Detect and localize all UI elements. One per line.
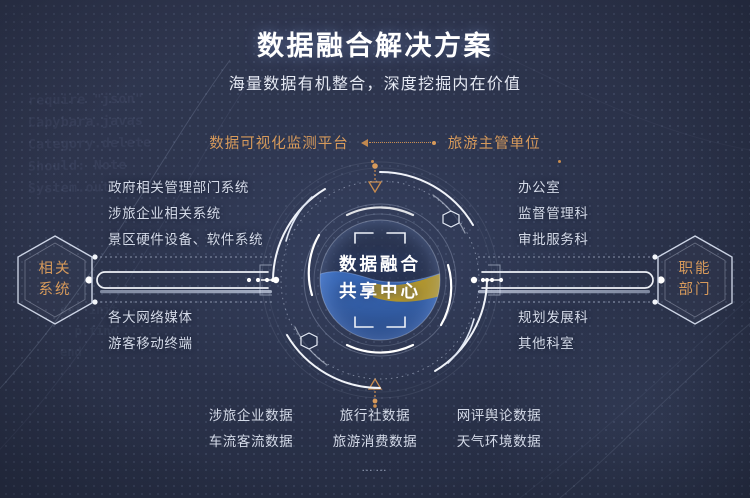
list-item: 其他科室 (518, 331, 589, 357)
list-item: 监督管理科 (518, 201, 589, 227)
bottom-data-sources: 涉旅企业数据 旅行社数据 网评舆论数据 车流客流数据 旅游消费数据 天气环境数据… (0, 404, 750, 474)
list-item: 网评舆论数据 (456, 404, 542, 424)
bottom-row-1: 涉旅企业数据 旅行社数据 网评舆论数据 (208, 404, 542, 424)
bottom-ellipsis: …… (361, 460, 389, 474)
list-item: 天气环境数据 (456, 430, 542, 450)
functional-departments-line1: 职能 (679, 259, 712, 280)
right-top-department-list: 办公室 监督管理科 审批服务科 (518, 175, 589, 253)
list-item: 政府相关管理部门系统 (108, 175, 263, 201)
related-systems-text: 相关 系统 (12, 232, 98, 328)
related-systems-line2: 系统 (39, 280, 72, 301)
functional-departments-line2: 部门 (679, 280, 712, 301)
connector-dot-icon (432, 141, 436, 145)
visualization-platform-label[interactable]: 数据可视化监测平台 (209, 132, 349, 153)
list-item: 车流客流数据 (208, 430, 294, 450)
list-item: 涉旅企业相关系统 (108, 201, 263, 227)
platform-authority-connector (361, 137, 436, 149)
page-subtitle: 海量数据有机整合，深度挖掘内在价值 (0, 70, 750, 94)
functional-departments-text: 职能 部门 (652, 232, 738, 328)
infographic-canvas: require "json" Capybara.javas Category.d… (0, 0, 750, 498)
page-title: 数据融合解决方案 (0, 24, 750, 63)
left-arrow-icon (361, 139, 368, 147)
right-bottom-department-list: 规划发展科 其他科室 (518, 305, 589, 357)
list-item: 景区硬件设备、软件系统 (108, 227, 263, 253)
list-item: 审批服务科 (518, 227, 589, 253)
bottom-row-2: 车流客流数据 旅游消费数据 天气环境数据 (208, 430, 542, 450)
data-fusion-hub[interactable]: 数据融合 共享中心 (255, 155, 505, 405)
left-bottom-source-list: 各大网络媒体 游客移动终端 (108, 305, 193, 357)
functional-departments-hexagon[interactable]: 职能 部门 (652, 232, 738, 328)
tourism-authority-label[interactable]: 旅游主管单位 (448, 132, 541, 153)
dotted-line (369, 142, 431, 143)
list-item: 各大网络媒体 (108, 305, 193, 331)
related-systems-line1: 相关 (39, 259, 72, 280)
related-systems-hexagon[interactable]: 相关 系统 (12, 232, 98, 328)
list-item: 涉旅企业数据 (208, 404, 294, 424)
list-item: 规划发展科 (518, 305, 589, 331)
left-top-source-list: 政府相关管理部门系统 涉旅企业相关系统 景区硬件设备、软件系统 (108, 175, 263, 253)
list-item: 旅游消费数据 (332, 430, 418, 450)
list-item: 办公室 (518, 175, 589, 201)
top-node-row: 数据可视化监测平台 旅游主管单位 (0, 132, 750, 153)
hub-rings-graphic (255, 155, 505, 405)
list-item: 游客移动终端 (108, 331, 193, 357)
list-item: 旅行社数据 (332, 404, 418, 424)
authority-tick-marker (558, 160, 561, 163)
